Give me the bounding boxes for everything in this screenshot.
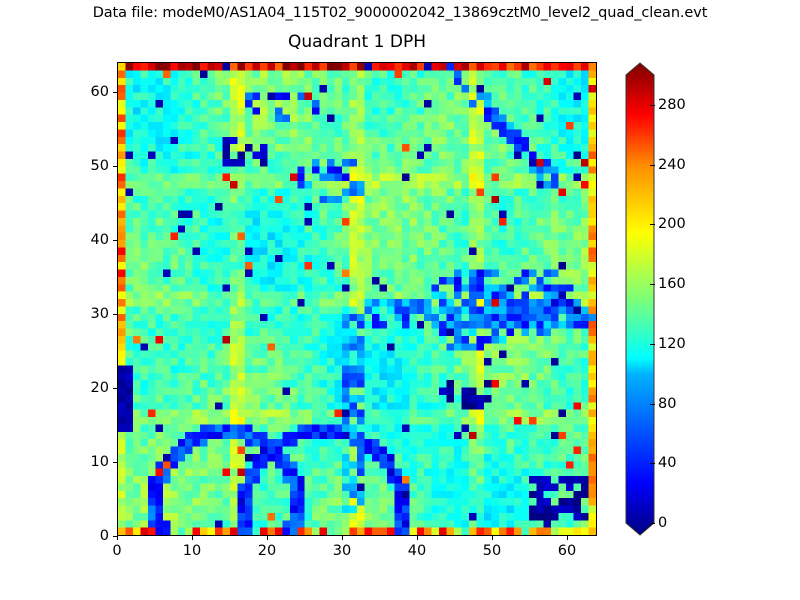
x-tick-label: 30 <box>333 543 351 559</box>
x-tick-label: 0 <box>112 543 121 559</box>
y-tick-label: 10 <box>69 454 109 470</box>
colorbar-tick-label: 240 <box>658 157 686 173</box>
x-tick-label: 10 <box>183 543 201 559</box>
y-tick-label: 60 <box>69 84 109 100</box>
y-tick-label: 50 <box>69 158 109 174</box>
colorbar-tick-mark <box>650 284 655 285</box>
x-tick-mark <box>117 536 118 540</box>
y-tick-mark <box>113 462 117 463</box>
x-tick-mark <box>192 536 193 540</box>
colorbar-tick-label: 200 <box>658 216 686 232</box>
colorbar-tick-mark <box>650 404 655 405</box>
x-tick-mark <box>342 536 343 540</box>
heatmap-image[interactable] <box>118 63 596 535</box>
colorbar-tick-label: 80 <box>658 396 676 412</box>
x-tick-mark <box>267 536 268 540</box>
colorbar-tick-label: 40 <box>658 455 676 471</box>
matplotlib-figure: Data file: modeM0/AS1A04_115T02_90000020… <box>0 0 800 600</box>
y-tick-mark <box>113 166 117 167</box>
y-tick-label: 40 <box>69 232 109 248</box>
colorbar-tick-label: 280 <box>658 97 686 113</box>
y-tick-mark <box>113 388 117 389</box>
x-tick-mark <box>492 536 493 540</box>
colorbar-tick-mark <box>650 463 655 464</box>
x-tick-mark <box>567 536 568 540</box>
y-tick-mark <box>113 314 117 315</box>
colorbar-tick-label: 120 <box>658 336 686 352</box>
x-tick-label: 60 <box>558 543 576 559</box>
colorbar-tick-mark <box>650 523 655 524</box>
y-tick-mark <box>113 92 117 93</box>
x-tick-label: 20 <box>258 543 276 559</box>
colorbar-tick-mark <box>650 105 655 106</box>
colorbar-gradient <box>624 62 658 536</box>
colorbar-tick-mark <box>650 224 655 225</box>
colorbar[interactable] <box>624 62 658 536</box>
y-tick-mark <box>113 536 117 537</box>
figure-suptitle: Data file: modeM0/AS1A04_115T02_90000020… <box>0 5 800 21</box>
colorbar-tick-label: 0 <box>658 515 667 531</box>
colorbar-tick-mark <box>650 344 655 345</box>
colorbar-tick-mark <box>650 165 655 166</box>
axes-title: Quadrant 1 DPH <box>117 32 597 52</box>
colorbar-tick-label: 160 <box>658 276 686 292</box>
y-tick-mark <box>113 240 117 241</box>
y-tick-label: 30 <box>69 306 109 322</box>
y-tick-label: 20 <box>69 380 109 396</box>
x-tick-label: 40 <box>408 543 426 559</box>
x-tick-mark <box>417 536 418 540</box>
y-tick-label: 0 <box>69 528 109 544</box>
x-tick-label: 50 <box>483 543 501 559</box>
heatmap-axes[interactable] <box>117 62 597 536</box>
